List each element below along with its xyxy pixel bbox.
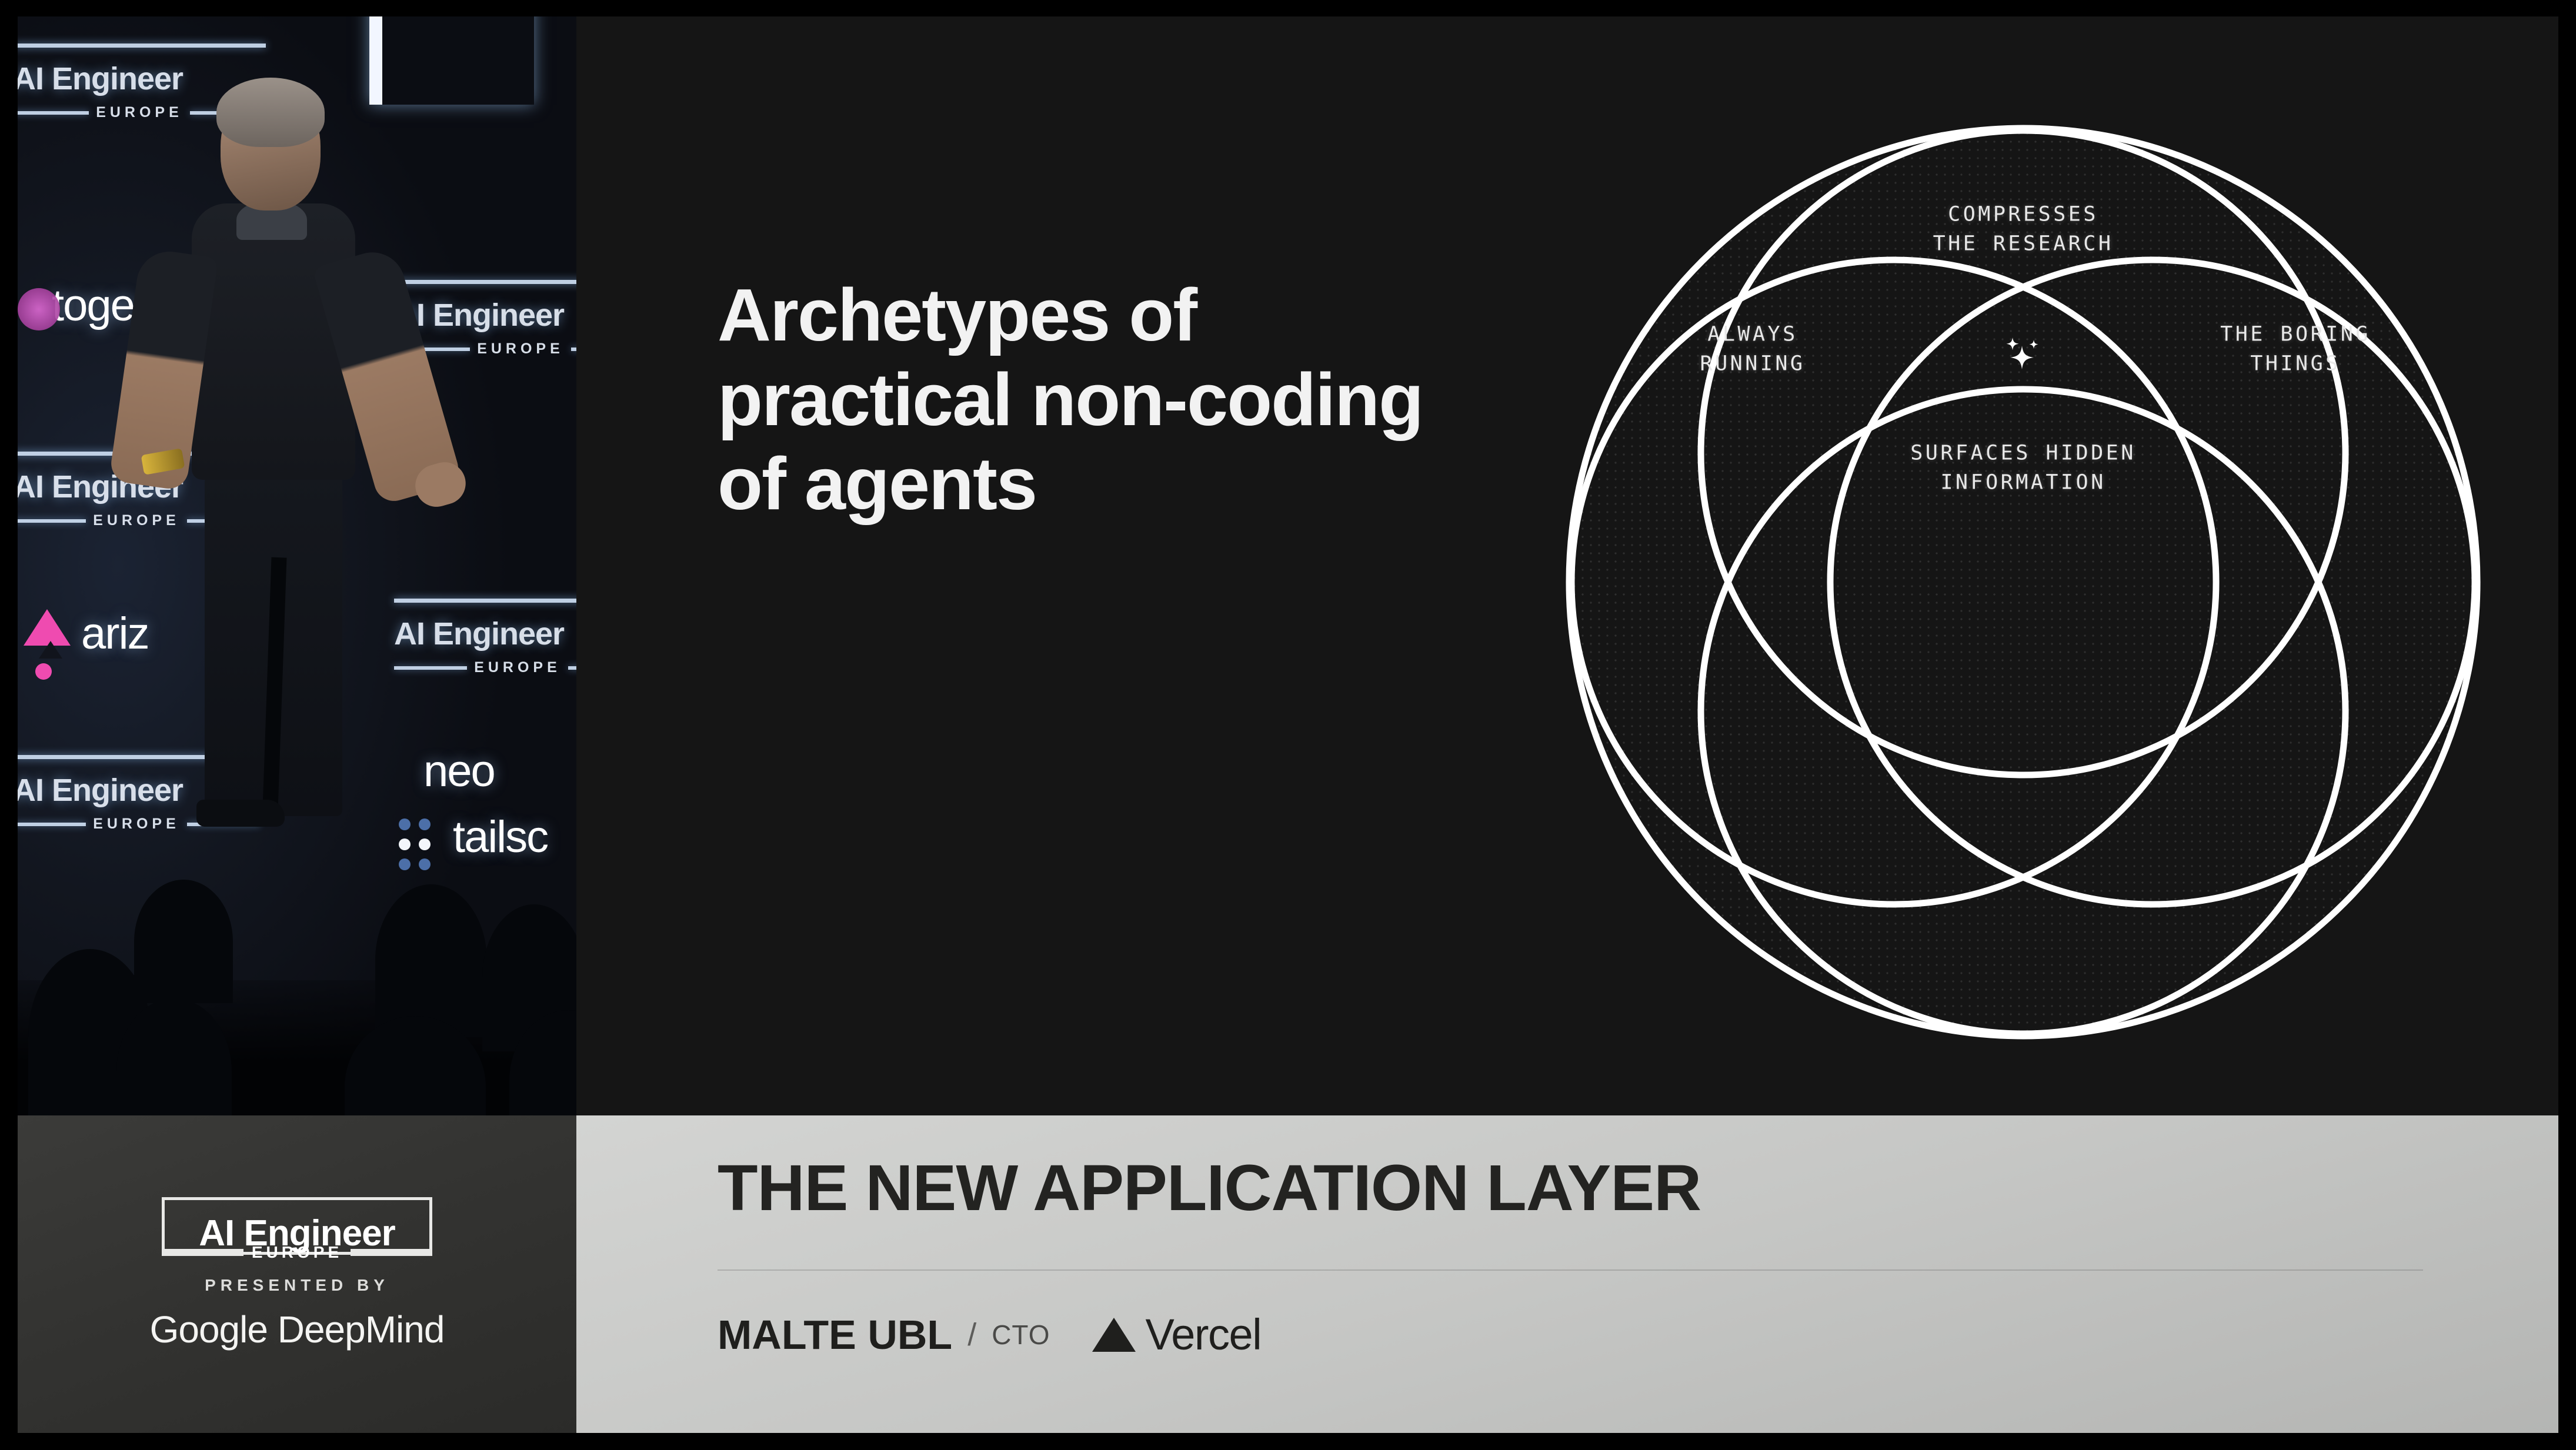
tile-rule [394, 280, 576, 284]
audience-silhouette [134, 880, 233, 1003]
meta-divider [718, 1269, 2423, 1271]
sponsor-logo-neon: neo [423, 746, 495, 797]
company-logo: Vercel [1091, 1309, 1261, 1359]
talk-meta-panel: THE NEW APPLICATION LAYER MALTE UBL / CT… [576, 1115, 2558, 1433]
speaker-role: CTO [992, 1319, 1050, 1351]
region-bar-left [162, 1249, 243, 1256]
tile-region-row: EUROPE [394, 659, 576, 676]
sponsor-mark-arize-chevron [24, 609, 71, 646]
event-region: EUROPE [252, 1243, 342, 1262]
venn-label-surfaces-hidden-information: SURFACES HIDDEN INFORMATION [1910, 439, 2136, 497]
ai-engineer-logo: AI Engineer EUROPE [162, 1197, 432, 1255]
tile-dash-left [18, 519, 86, 523]
audience-silhouette [375, 884, 487, 1037]
tile-dash-left [394, 666, 467, 670]
sponsor-logo-tailscale: tailsc [453, 811, 548, 863]
tile-region: EUROPE [474, 659, 561, 676]
venn-label-compresses-the-research: COMPRESSES THE RESEARCH [1933, 200, 2114, 258]
slide-title: Archetypes of practical non-coding of ag… [718, 273, 1482, 526]
tile-dash-right [568, 666, 576, 670]
backdrop-corner-bracket [369, 16, 534, 105]
tile-region: EUROPE [93, 816, 180, 833]
tile-rule [18, 44, 266, 48]
backdrop-tile-ai-engineer: AI Engineer EUROPE [394, 599, 576, 676]
lower-third-bar: AI Engineer EUROPE PRESENTED BY Google D… [18, 1115, 2558, 1433]
event-region-strip: EUROPE [162, 1243, 432, 1262]
sponsor-logo-arize: ariz [81, 608, 148, 659]
sparkles-icon [1995, 326, 2051, 382]
sponsor-mark-tailscale-dots [399, 818, 443, 870]
sponsor-mark-arize-notch [39, 641, 62, 659]
tile-dash-left [18, 823, 86, 826]
venn-svg [1564, 123, 2482, 1041]
event-brand-panel: AI Engineer EUROPE PRESENTED BY Google D… [18, 1115, 576, 1433]
tile-region: EUROPE [477, 340, 564, 358]
speaker-name: MALTE UBL [718, 1311, 952, 1358]
slide-canvas: Archetypes of practical non-coding of ag… [576, 16, 2558, 1115]
video-frame: AI Engineer EUROPE AI Engineer EUROPE [18, 16, 2558, 1433]
region-bar-right [351, 1249, 432, 1256]
tile-event-name: AI Engineer [394, 616, 576, 652]
speaker-video-panel[interactable]: AI Engineer EUROPE AI Engineer EUROPE [18, 16, 576, 1115]
sparkles-icon-svg [1995, 326, 2051, 382]
speaker-row: MALTE UBL / CTO Vercel [718, 1309, 1261, 1359]
sponsor-logo-together: toge [52, 280, 134, 331]
tile-dash-right [571, 348, 576, 351]
presented-by-label: PRESENTED BY [205, 1276, 389, 1295]
venn-label-the-boring-things: THE BORING THINGS [2220, 320, 2371, 378]
speaker-separator: / [967, 1317, 976, 1353]
tile-dash-left [18, 111, 89, 115]
tile-region: EUROPE [93, 512, 180, 529]
company-name: Vercel [1145, 1309, 1261, 1359]
talk-title: THE NEW APPLICATION LAYER [718, 1151, 1701, 1225]
tile-event-name: AI Engineer [394, 297, 576, 333]
presentation-top-area: AI Engineer EUROPE AI Engineer EUROPE [18, 16, 2558, 1115]
tile-rule [394, 599, 576, 603]
vercel-triangle-icon [1091, 1315, 1137, 1354]
tile-region: EUROPE [96, 104, 183, 121]
sponsor-mark-together-dot [18, 288, 60, 330]
sponsor-google-deepmind: Google DeepMind [150, 1308, 445, 1351]
venn-diagram: COMPRESSES THE RESEARCH ALWAYS RUNNING T… [1564, 123, 2482, 1041]
sponsor-mark-arize-dot [35, 663, 52, 680]
venn-label-always-running: ALWAYS RUNNING [1700, 320, 1805, 378]
